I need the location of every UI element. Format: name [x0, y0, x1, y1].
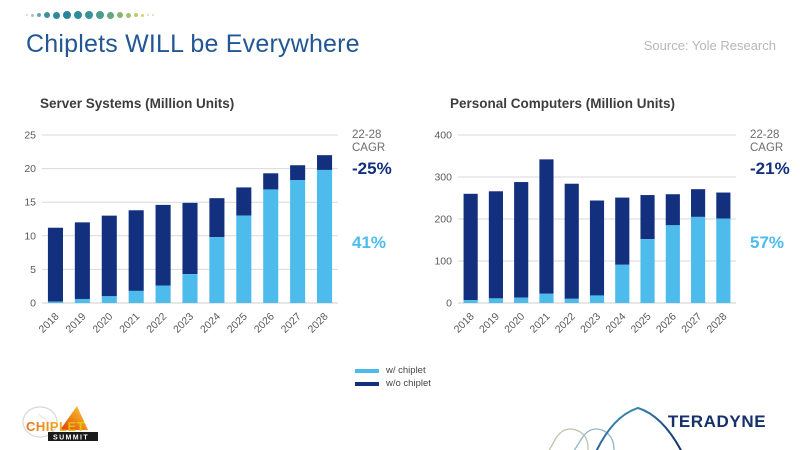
bar-with-chiplet-2026: [666, 225, 680, 303]
chiplet-summit-wordmark-line2: SUMMIT: [53, 435, 89, 442]
x-tick-label-2023: 2023: [578, 311, 603, 336]
cagr-header-pc: 22-28CAGR: [750, 129, 783, 155]
chart-panel-server-systems: Server Systems (Million Units) 051015202…: [14, 96, 414, 356]
y-tick-label-300: 300: [434, 172, 452, 184]
cagr-with-chiplet-pc: 57%: [750, 233, 784, 253]
bar-with-chiplet-2024: [615, 265, 629, 303]
legend-swatch-1: [355, 382, 379, 386]
chart-legend: w/ chipletw/o chiplet: [355, 364, 431, 390]
decorative-dot-7: [85, 11, 93, 19]
x-tick-label-2028: 2028: [306, 311, 331, 336]
x-tick-label-2025: 2025: [629, 311, 654, 336]
y-tick-label-0: 0: [30, 298, 36, 310]
x-tick-label-2027: 2027: [279, 311, 304, 336]
bar-without-chiplet-2025: [640, 195, 654, 239]
bar-with-chiplet-2021: [539, 294, 553, 303]
decorative-dot-6: [74, 11, 82, 19]
legend-item-1: w/o chiplet: [355, 377, 431, 390]
chart-title-personal-computers: Personal Computers (Million Units): [450, 96, 800, 111]
bar-without-chiplet-2028: [317, 155, 332, 170]
bar-with-chiplet-2023: [182, 274, 197, 303]
bar-without-chiplet-2023: [182, 203, 197, 274]
chart-svg-server-systems: 0510152025201820192020202120222023202420…: [14, 129, 344, 349]
x-tick-label-2028: 2028: [704, 311, 729, 336]
bar-without-chiplet-2019: [75, 222, 90, 299]
source-note: Source: Yole Research: [644, 38, 776, 53]
bar-without-chiplet-2026: [263, 173, 278, 189]
bar-with-chiplet-2025: [236, 216, 251, 303]
x-tick-label-2018: 2018: [452, 311, 477, 336]
y-tick-label-100: 100: [434, 256, 452, 268]
decorative-dot-9: [107, 12, 114, 19]
bar-without-chiplet-2025: [236, 187, 251, 215]
x-tick-label-2027: 2027: [679, 311, 704, 336]
decorative-dot-5: [63, 11, 71, 19]
bar-with-chiplet-2028: [716, 219, 730, 303]
cagr-header-line-0: 22-28: [750, 129, 783, 142]
teradyne-wordmark: TERADYNE: [668, 412, 766, 431]
decorative-dot-1: [31, 14, 34, 17]
bar-without-chiplet-2026: [666, 194, 680, 225]
y-tick-label-200: 200: [434, 214, 452, 226]
x-tick-label-2019: 2019: [63, 311, 88, 336]
bar-with-chiplet-2020: [102, 296, 117, 303]
y-tick-label-25: 25: [24, 130, 36, 142]
y-tick-label-15: 15: [24, 197, 36, 209]
chart-title-server-systems: Server Systems (Million Units): [40, 96, 414, 111]
bar-without-chiplet-2027: [290, 165, 305, 180]
y-tick-label-400: 400: [434, 130, 452, 142]
y-tick-label-10: 10: [24, 230, 36, 242]
x-tick-label-2018: 2018: [37, 311, 62, 336]
cagr-header-line-0: 22-28: [352, 129, 385, 142]
bar-with-chiplet-2018: [48, 302, 63, 303]
x-tick-label-2025: 2025: [225, 311, 250, 336]
bar-without-chiplet-2023: [590, 201, 604, 296]
x-tick-label-2026: 2026: [654, 311, 679, 336]
decorative-dot-14: [147, 14, 149, 16]
x-tick-label-2023: 2023: [171, 311, 196, 336]
legend-swatch-0: [355, 369, 379, 373]
x-tick-label-2021: 2021: [528, 311, 553, 336]
legend-label-1: w/o chiplet: [386, 378, 431, 389]
bar-without-chiplet-2020: [514, 182, 528, 298]
cagr-header-server: 22-28CAGR: [352, 129, 385, 155]
legend-label-0: w/ chiplet: [386, 365, 426, 376]
bar-with-chiplet-2020: [514, 298, 528, 303]
bar-with-chiplet-2025: [640, 239, 654, 303]
decorative-dot-10: [117, 12, 123, 18]
cagr-with-chiplet-server: 41%: [352, 233, 386, 253]
bar-without-chiplet-2024: [615, 198, 629, 265]
decorative-dot-12: [134, 13, 138, 17]
cagr-header-line-1: CAGR: [750, 142, 783, 155]
x-tick-label-2022: 2022: [144, 311, 169, 336]
decorative-dot-2: [37, 13, 41, 17]
y-tick-label-5: 5: [30, 264, 36, 276]
page-title: Chiplets WILL be Everywhere: [26, 30, 360, 59]
x-tick-label-2022: 2022: [553, 311, 578, 336]
x-tick-label-2024: 2024: [198, 311, 223, 336]
bar-without-chiplet-2027: [691, 189, 705, 217]
chart-panel-personal-computers: Personal Computers (Million Units) 01002…: [424, 96, 800, 356]
chiplet-summit-wordmark-line1: CHIPLET: [26, 419, 85, 434]
y-tick-label-20: 20: [24, 163, 36, 175]
bar-with-chiplet-2027: [691, 217, 705, 303]
decorative-dot-0: [26, 14, 28, 16]
bar-with-chiplet-2022: [156, 286, 171, 303]
decorative-dot-3: [44, 12, 50, 18]
bar-with-chiplet-2022: [565, 299, 579, 303]
x-tick-label-2020: 2020: [502, 311, 527, 336]
decorative-dot-8: [96, 11, 104, 19]
bar-with-chiplet-2019: [75, 299, 90, 303]
bar-without-chiplet-2019: [489, 191, 503, 298]
teradyne-logo: TERADYNE: [542, 394, 792, 450]
bar-without-chiplet-2022: [156, 205, 171, 286]
bar-with-chiplet-2026: [263, 189, 278, 303]
plot-area-personal-computers: 0100200300400201820192020202120222023202…: [424, 129, 800, 349]
cagr-without-chiplet-pc: -21%: [750, 159, 790, 179]
bar-with-chiplet-2028: [317, 170, 332, 303]
bar-without-chiplet-2024: [209, 198, 224, 237]
x-tick-label-2024: 2024: [603, 311, 628, 336]
decorative-dot-4: [53, 12, 60, 19]
bar-without-chiplet-2018: [464, 194, 478, 300]
bar-with-chiplet-2027: [290, 180, 305, 303]
x-tick-label-2019: 2019: [477, 311, 502, 336]
cagr-without-chiplet-server: -25%: [352, 159, 392, 179]
chart-svg-personal-computers: 0100200300400201820192020202120222023202…: [424, 129, 742, 349]
bar-without-chiplet-2021: [539, 159, 553, 293]
bar-with-chiplet-2024: [209, 237, 224, 303]
bar-with-chiplet-2021: [129, 291, 144, 303]
cagr-header-line-1: CAGR: [352, 142, 385, 155]
x-tick-label-2026: 2026: [252, 311, 277, 336]
decorative-dot-11: [126, 13, 131, 18]
bar-with-chiplet-2023: [590, 295, 604, 303]
legend-item-0: w/ chiplet: [355, 364, 431, 377]
decorative-dot-strip: [26, 8, 226, 22]
bar-without-chiplet-2021: [129, 210, 144, 291]
y-tick-label-0: 0: [446, 298, 452, 310]
bar-without-chiplet-2018: [48, 228, 63, 302]
decorative-dot-13: [141, 14, 144, 17]
plot-area-server-systems: 0510152025201820192020202120222023202420…: [14, 129, 414, 349]
bar-without-chiplet-2028: [716, 193, 730, 219]
bar-with-chiplet-2019: [489, 298, 503, 303]
decorative-dot-15: [152, 14, 154, 16]
bar-without-chiplet-2022: [565, 184, 579, 299]
bar-with-chiplet-2018: [464, 300, 478, 303]
chiplet-summit-logo: CHIPLET SUMMIT: [16, 404, 108, 444]
x-tick-label-2020: 2020: [90, 311, 115, 336]
x-tick-label-2021: 2021: [117, 311, 142, 336]
bar-without-chiplet-2020: [102, 216, 117, 297]
